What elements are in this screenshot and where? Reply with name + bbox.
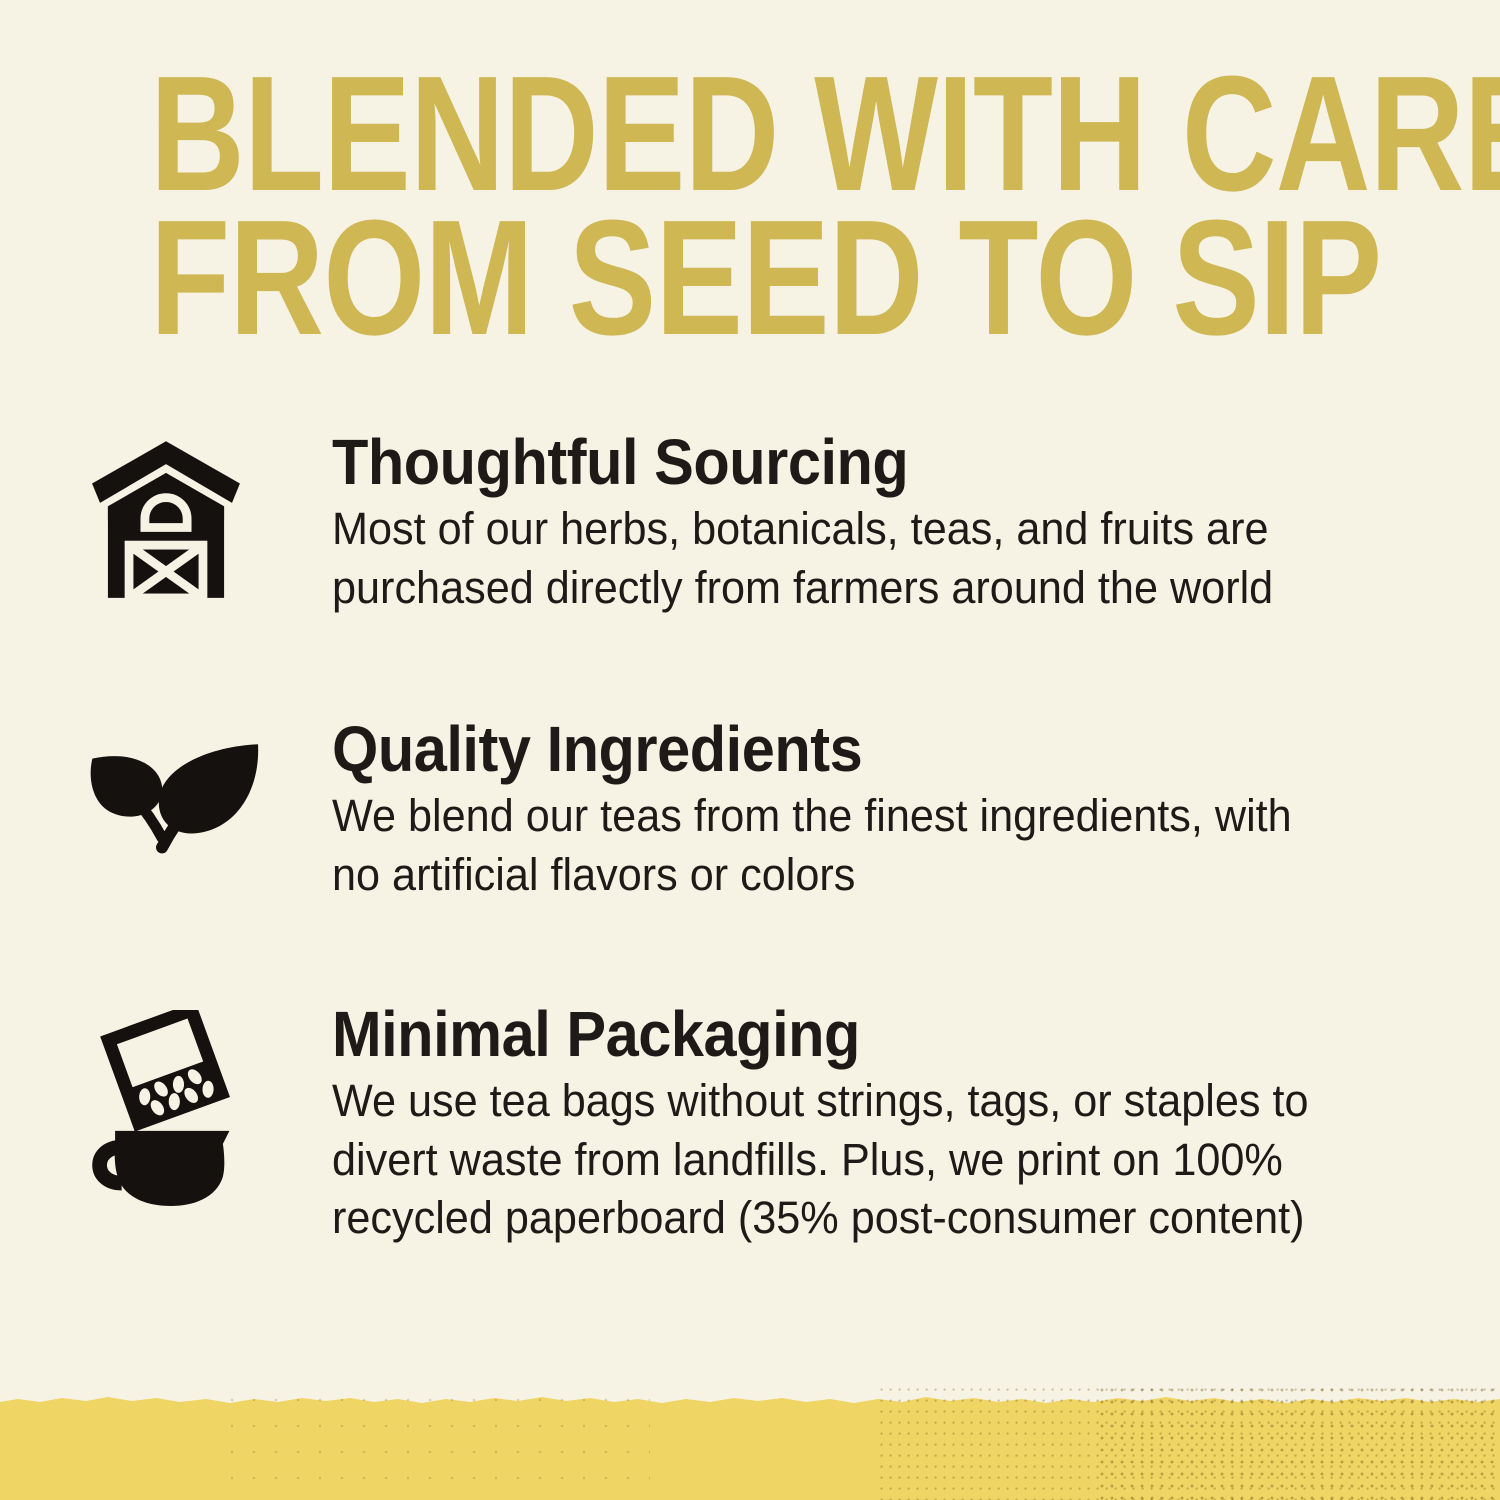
teabag-cup-icon [78,1010,260,1206]
feature-icon-cell [78,1002,332,1206]
headline-line-1: BLENDED WITH CARE [150,62,1350,206]
headline-line-2: FROM SEED TO SIP [150,206,1350,350]
feature-list: Thoughtful Sourcing Most of our herbs, b… [0,430,1500,1248]
leaves-icon [78,737,270,857]
feature-item-minimal-packaging: Minimal Packaging We use tea bags withou… [0,1002,1500,1248]
feature-body: Most of our herbs, botanicals, teas, and… [332,500,1348,617]
band-texture-left [230,1398,650,1500]
feature-title: Thoughtful Sourcing [332,430,1316,494]
feature-text-cell: Thoughtful Sourcing Most of our herbs, b… [332,430,1500,617]
feature-item-thoughtful-sourcing: Thoughtful Sourcing Most of our herbs, b… [0,430,1500,617]
poster-root: BLENDED WITH CARE FROM SEED TO SIP [0,0,1500,1500]
feature-body: We use tea bags without strings, tags, o… [332,1072,1348,1248]
barn-icon [78,436,254,612]
feature-text-cell: Quality Ingredients We blend our teas fr… [332,717,1500,904]
feature-body: We blend our teas from the finest ingred… [332,787,1348,904]
feature-text-cell: Minimal Packaging We use tea bags withou… [332,1002,1500,1248]
page-title: BLENDED WITH CARE FROM SEED TO SIP [150,62,1350,351]
feature-title: Quality Ingredients [332,717,1316,781]
bottom-yellow-band [0,1388,1500,1500]
feature-icon-cell [78,717,332,857]
band-texture-dots-dense [1100,1388,1500,1500]
feature-icon-cell [78,430,332,612]
feature-item-quality-ingredients: Quality Ingredients We blend our teas fr… [0,717,1500,904]
feature-title: Minimal Packaging [332,1002,1316,1066]
